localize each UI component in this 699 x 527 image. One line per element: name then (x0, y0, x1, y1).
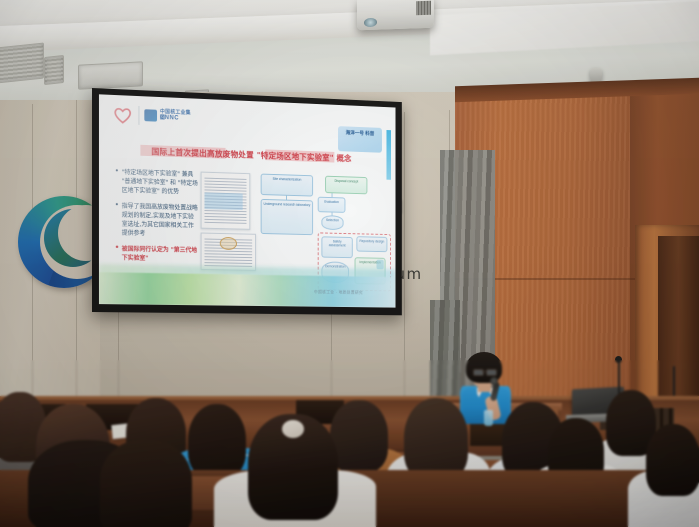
flow-box: Repository design (356, 236, 387, 252)
audience-hair (330, 400, 388, 472)
flow-connector (332, 193, 333, 197)
air-vent-icon (0, 42, 44, 83)
eyeglasses-icon (486, 369, 497, 376)
flow-connector (286, 196, 287, 200)
slide-bullet-item-highlight: 被国际同行认定为 "第三代地下实验室" (115, 244, 199, 263)
flow-box: Disposal concept (325, 176, 367, 195)
microphone-head-icon (615, 356, 622, 363)
flow-box: Selection (321, 215, 343, 230)
heart-logo-icon (113, 106, 133, 125)
certificate-seal-icon (220, 237, 237, 250)
audience-hair (188, 404, 246, 478)
slide-bullet-item: "特定场区地下实验室" 兼具 "普通地下实验室" 和 "特定场区地下实验室" 的… (115, 168, 199, 197)
eyeglasses-bridge (482, 371, 486, 372)
slide-accent-bar (386, 130, 391, 180)
cnnc-logo-icon: 中国核工业集团 CNNC (144, 108, 191, 125)
slide-bullet-list: "特定场区地下实验室" 兼具 "普通地下实验室" 和 "特定场区地下实验室" 的… (115, 168, 199, 271)
logo-divider (138, 106, 139, 125)
projector-vent (416, 1, 431, 16)
flow-box: Safety assessment (321, 236, 352, 258)
slide-corner-badge-label: 海洋一号 科普 (342, 130, 379, 138)
audience-hair (646, 424, 699, 496)
slide-watermark: 中国核工业 · 地质处置研究 (314, 289, 363, 295)
projection-screen: 中国核工业集团 CNNC 海洋一号 科普 国际上首次提出高放废物处置 "特定场区… (99, 94, 396, 307)
water-bottle-icon (484, 410, 493, 426)
projection-screen-frame: 中国核工业集团 CNNC 海洋一号 科普 国际上首次提出高放废物处置 "特定场区… (92, 88, 402, 315)
audience-hair (404, 398, 468, 480)
slide-decor-icon (376, 260, 383, 270)
air-vent-icon (44, 55, 64, 85)
presentation-slide: 中国核工业集团 CNNC 海洋一号 科普 国际上首次提出高放废物处置 "特定场区… (99, 94, 396, 307)
ceiling-diffuser (78, 61, 143, 89)
lecture-hall-photo: 馆 Museum 中国核工业集团 CNNC 海洋一号 科普 (0, 0, 699, 527)
microphone-head-icon (490, 377, 498, 385)
flow-box: Evaluation (318, 197, 346, 213)
flow-box: Underground research laboratory (261, 199, 313, 235)
audience-hair (100, 440, 192, 527)
document-highlight (204, 192, 242, 210)
flow-connector (332, 213, 333, 216)
cnnc-mark-icon (144, 109, 157, 121)
microphone-stand-icon (673, 366, 675, 396)
cnnc-logo-code: CNNC (160, 115, 179, 122)
slide-bullet-item: 指导了我国高放废物处置战略规划的制定,实现及地下实验室选址,为其它国家相关工作提… (115, 202, 199, 240)
hair-tie-icon (282, 420, 304, 438)
flow-box: Site characterization (261, 174, 313, 197)
